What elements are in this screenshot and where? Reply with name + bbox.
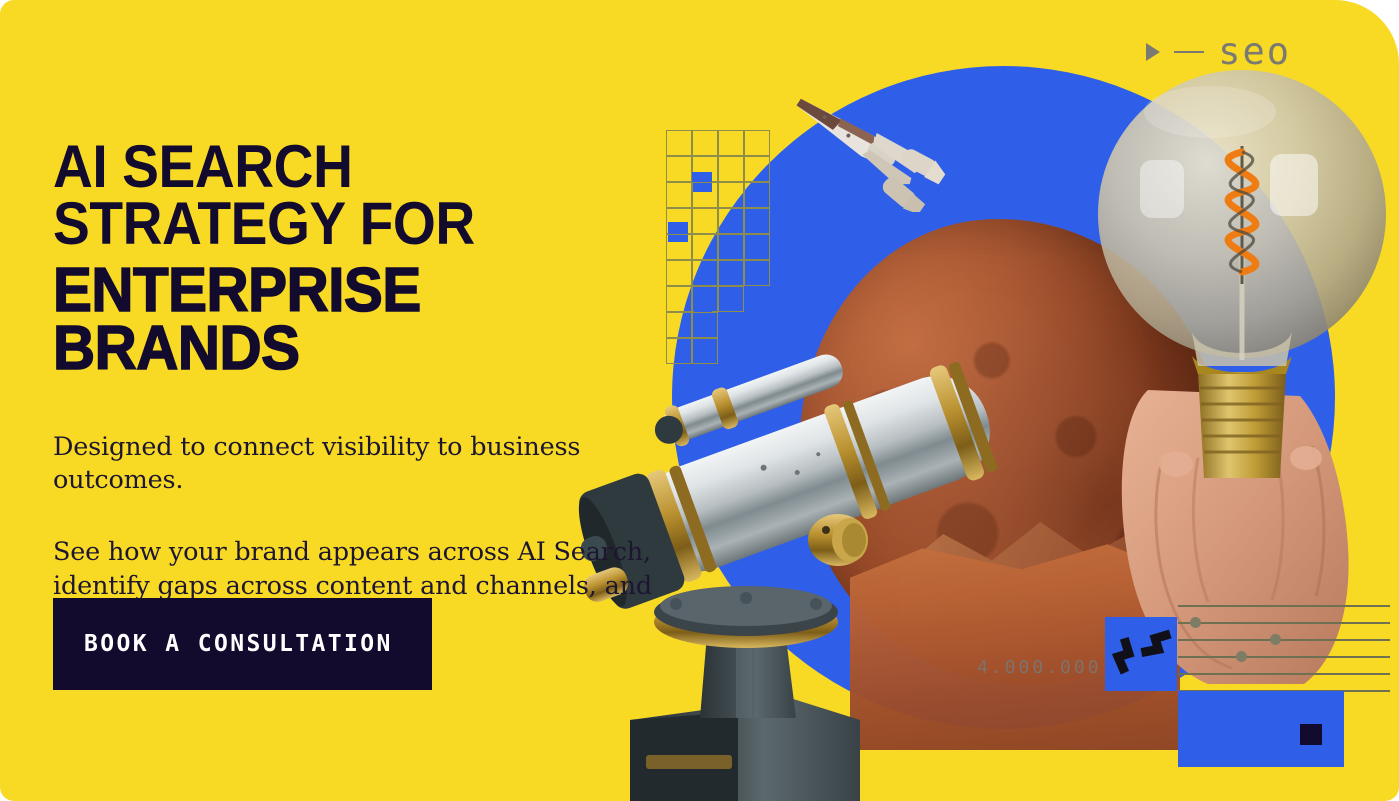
blue-rectangle-shape [1178,691,1344,767]
space-shuttle-icon [770,82,950,212]
chart-lines-decoration [1178,605,1390,697]
book-consultation-button[interactable]: BOOK A CONSULTATION [53,598,432,690]
hero-copy: AI SEARCH STRATEGY FOR ENTERPRISE BRANDS… [53,118,673,663]
hero-paragraph-1: Designed to connect visibility to busine… [53,431,673,498]
headline-line-2: ENTERPRISE BRANDS [53,262,636,379]
bracket-pair-icon [1105,617,1177,691]
book-consultation-label: BOOK A CONSULTATION [53,631,393,657]
collage-artwork: 4.000.000 00 [600,0,1399,801]
lightbulb-icon [1090,60,1390,700]
headline-line-1: AI SEARCH STRATEGY FOR [53,139,623,252]
promo-banner: seo 4.000. [0,0,1399,801]
page-title: AI SEARCH STRATEGY FOR ENTERPRISE BRANDS [53,139,673,378]
dark-square-accent [1300,724,1322,745]
